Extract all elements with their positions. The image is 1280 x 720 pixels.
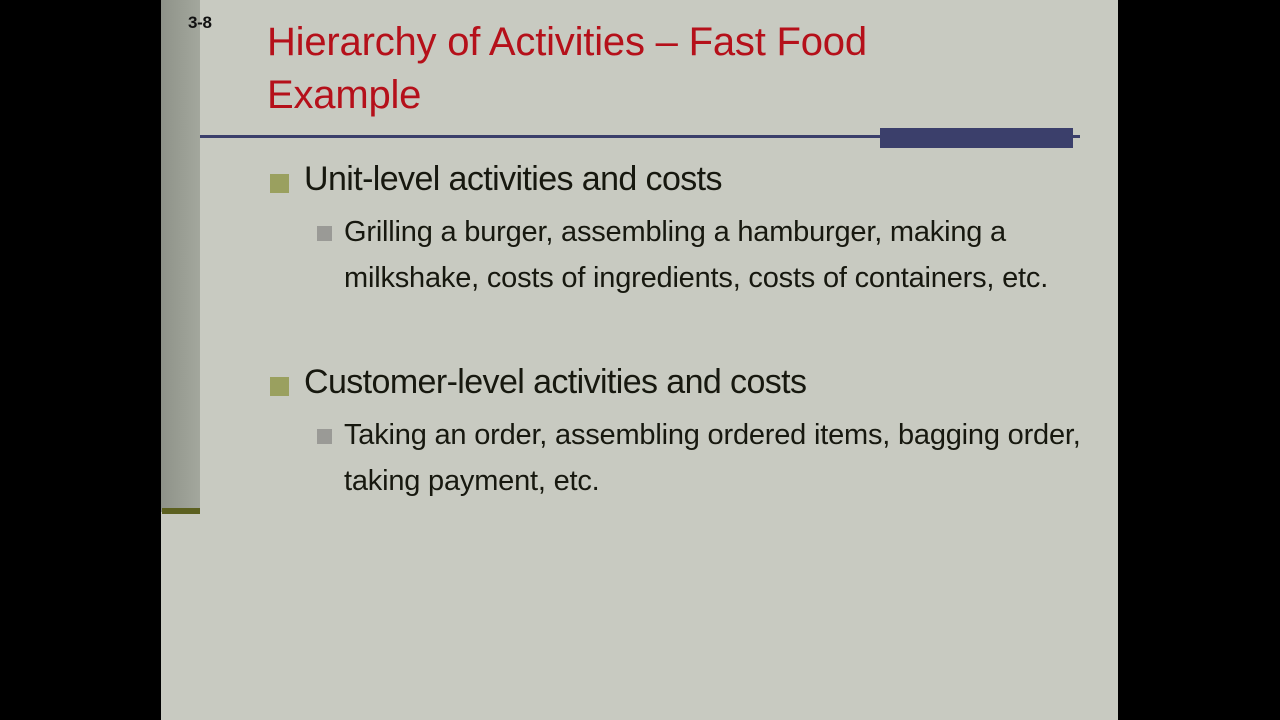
slide-title: Hierarchy of Activities – Fast Food Exam… <box>267 16 997 122</box>
bullet-item-level1: Customer-level activities and costs <box>161 359 1118 406</box>
bullet-level2-label: Taking an order, assembling ordered item… <box>344 419 1081 497</box>
slide-body: Unit-level activities and costs Grilling… <box>161 156 1118 504</box>
section-spacer <box>161 301 1118 359</box>
bullet-level1-label: Unit-level activities and costs <box>304 160 722 198</box>
bullet-item-level2: Taking an order, assembling ordered item… <box>161 412 1118 504</box>
slide-left-accent-strip-cap <box>162 508 200 514</box>
square-subbullet-icon <box>317 429 332 444</box>
square-bullet-icon <box>270 174 289 193</box>
screen: 3-8 Hierarchy of Activities – Fast Food … <box>0 0 1280 720</box>
presentation-slide: 3-8 Hierarchy of Activities – Fast Food … <box>161 0 1118 720</box>
letterbox-right <box>1118 0 1280 720</box>
square-bullet-icon <box>270 377 289 396</box>
bullet-level2-label: Grilling a burger, assembling a hamburge… <box>344 216 1048 294</box>
bullet-item-level2: Grilling a burger, assembling a hamburge… <box>161 209 1118 301</box>
bullet-level1-label: Customer-level activities and costs <box>304 363 806 401</box>
square-subbullet-icon <box>317 226 332 241</box>
slide-number: 3-8 <box>188 13 212 33</box>
title-accent-block <box>880 128 1073 148</box>
bullet-item-level1: Unit-level activities and costs <box>161 156 1118 203</box>
letterbox-left <box>0 0 161 720</box>
